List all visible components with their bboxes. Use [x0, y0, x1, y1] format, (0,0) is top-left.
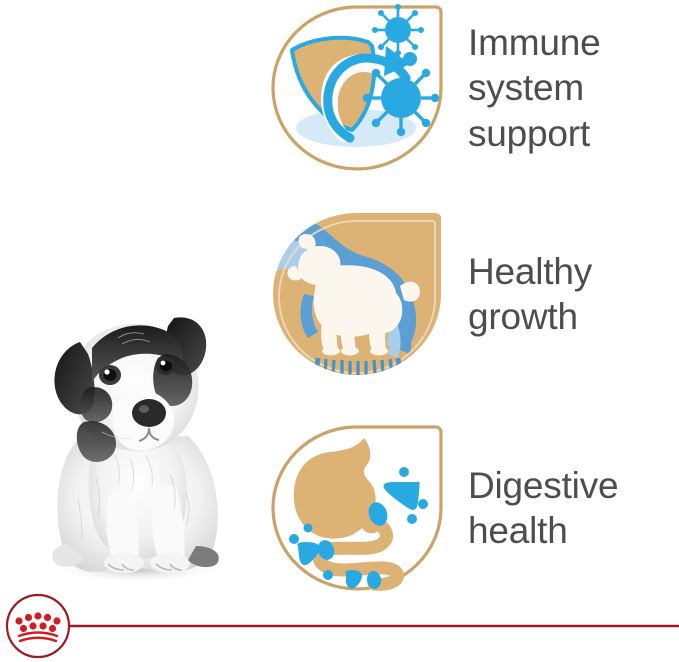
brand-footer [0, 586, 679, 662]
benefit-label-digestive-health: Digestive health [468, 463, 618, 553]
shield-virus-icon [268, 2, 446, 174]
royal-canin-logo-circle [7, 595, 69, 657]
benefit-item-digestive-health: Digestive health [268, 422, 618, 594]
benefit-item-immune-system-support: Immune system support [268, 2, 600, 174]
benefit-item-healthy-growth: Healthy growth [268, 208, 592, 380]
puppy-growth-icon [268, 208, 446, 380]
puppy-photo [18, 278, 248, 586]
product-benefits-panel: Immune system support [0, 0, 679, 662]
stomach-intestine-icon [268, 422, 446, 594]
benefit-label-healthy-growth: Healthy growth [468, 249, 592, 339]
benefit-label-immune-system-support: Immune system support [468, 20, 600, 155]
